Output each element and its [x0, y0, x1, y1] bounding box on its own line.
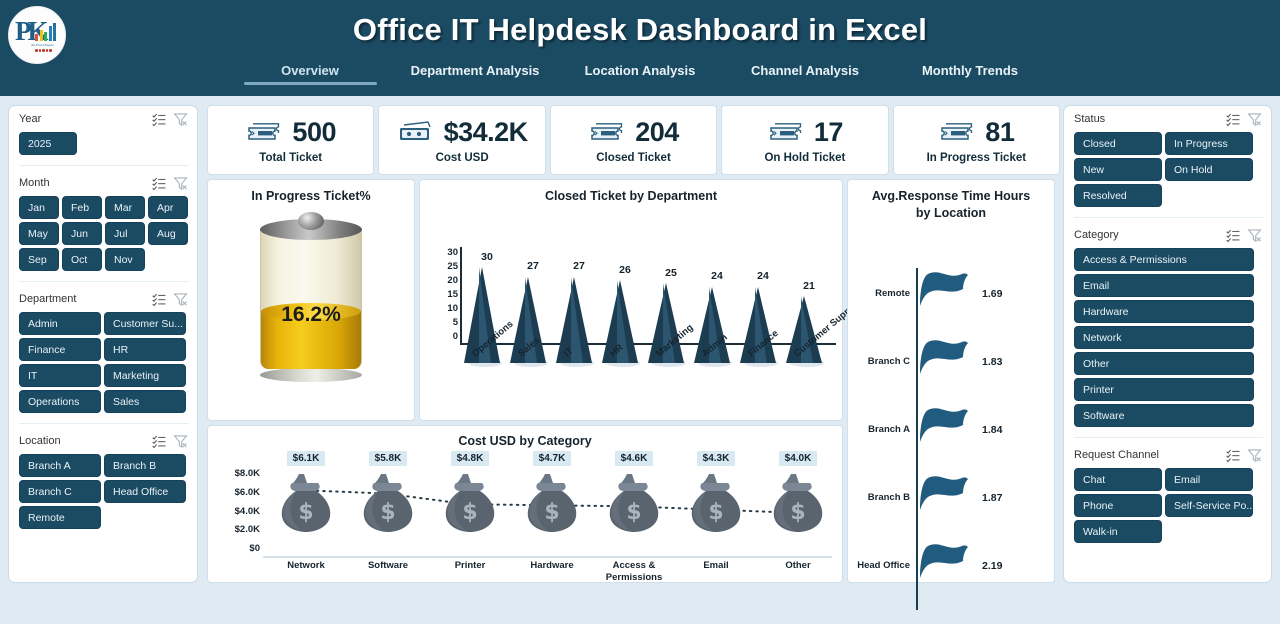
svg-text:$: $	[544, 500, 559, 525]
kpi-card: 500 Total Ticket	[207, 105, 374, 175]
slicer-items: 2025	[9, 132, 197, 163]
slicer-items: ChatEmailPhoneSelf-Service Po...Walk-in	[1064, 468, 1271, 551]
slicer-item[interactable]: Jan	[19, 196, 59, 219]
cone-y-tick: 20	[447, 275, 458, 286]
slicer-item[interactable]: Finance	[19, 338, 101, 361]
kpi-label: On Hold Ticket	[764, 152, 845, 164]
cone-y-tick: 25	[447, 261, 458, 272]
bag-data-label: $4.6K	[615, 451, 654, 466]
kpi-value-row: 17	[767, 117, 843, 148]
slicer-header: Category	[1064, 222, 1271, 248]
flag-icon	[918, 336, 978, 382]
flag-chart-title: Avg.Response Time Hours by Location	[848, 180, 1054, 222]
cone-y-tick: 30	[447, 247, 458, 258]
kpi-value-row: 204	[588, 117, 679, 148]
slicer-title: Category	[1074, 229, 1221, 241]
flag-bar	[918, 336, 978, 387]
cone-data-label: 24	[740, 270, 786, 282]
page-title: Office IT Helpdesk Dashboard in Excel	[0, 12, 1280, 48]
multi-select-icon[interactable]	[151, 111, 168, 128]
bag-data-label: $5.8K	[369, 451, 408, 466]
kpi-value: 17	[814, 117, 843, 148]
multi-select-icon[interactable]	[1225, 111, 1242, 128]
flag-icon	[918, 540, 978, 586]
slicer-month: Month JanFebMarAprMayJunJulAugSepOctNov	[9, 170, 197, 279]
tab-location-analysis[interactable]: Location Analysis	[558, 60, 723, 85]
slicer-item[interactable]: In Progress	[1165, 132, 1253, 155]
slicer-divider	[19, 165, 189, 166]
bag-category-label: Software	[345, 560, 431, 572]
tab-channel-analysis[interactable]: Channel Analysis	[723, 60, 888, 85]
tab-department-analysis[interactable]: Department Analysis	[393, 60, 558, 85]
flag-category-label: Head Office	[848, 560, 914, 571]
svg-text:$: $	[626, 500, 641, 525]
dashboard-root: PK An Excel Expert Office IT Helpdesk Da…	[0, 0, 1280, 624]
right-filter-panel: Status ClosedIn ProgressNewOn HoldResolv…	[1063, 105, 1272, 583]
kpi-value-row: 500	[245, 117, 336, 148]
slicer-item[interactable]: 2025	[19, 132, 77, 155]
flag-row: Branch A 1.84	[848, 402, 1054, 458]
slicer-title: Location	[19, 435, 147, 447]
slicer-item[interactable]: Other	[1074, 352, 1254, 375]
bag-column: $4.6K $ Access &Permissions	[591, 448, 677, 539]
cone-y-tick: 10	[447, 303, 458, 314]
slicer-item[interactable]: Mar	[105, 196, 145, 219]
slicer-item[interactable]: Software	[1074, 404, 1254, 427]
flag-row: Remote 1.69	[848, 266, 1054, 322]
bag-y-tick: $0	[249, 543, 260, 554]
bag-column: $4.8K $ Printer	[427, 448, 513, 539]
slicer-item[interactable]: Branch B	[104, 454, 186, 477]
flag-chart: Remote 1.69Branch C 1.83Branch A 1.84Bra…	[848, 222, 1054, 624]
bag-pictograph: $	[509, 468, 595, 539]
slicer-item[interactable]: Sep	[19, 248, 59, 271]
slicer-header: Month	[9, 170, 197, 196]
flag-bar	[918, 404, 978, 455]
flag-value-label: 1.83	[982, 356, 1002, 368]
slicer-year: Year 2025	[9, 106, 197, 163]
flag-chart-title-line1: Avg.Response Time Hours	[872, 189, 1030, 203]
dashboard-header: PK An Excel Expert Office IT Helpdesk Da…	[0, 0, 1280, 96]
cylinder-base	[260, 368, 362, 382]
flag-value-label: 1.87	[982, 492, 1002, 504]
slicer-item[interactable]: Branch A	[19, 454, 101, 477]
flag-icon	[918, 268, 978, 314]
kpi-value: $34.2K	[444, 117, 528, 148]
money-bag-icon: $	[441, 468, 499, 534]
bag-category-label: Hardware	[509, 560, 595, 572]
slicer-item[interactable]: Email	[1074, 274, 1254, 297]
slicer-status: Status ClosedIn ProgressNewOn HoldResolv…	[1064, 106, 1271, 215]
cone-y-axis: 302520151050	[428, 247, 458, 342]
slicer-title: Department	[19, 293, 147, 305]
slicer-item[interactable]: Closed	[1074, 132, 1162, 155]
slicer-item[interactable]: Oct	[62, 248, 102, 271]
logo-tagline: An Excel Expert	[31, 43, 54, 47]
bag-data-label: $4.0K	[779, 451, 818, 466]
slicer-item[interactable]: Operations	[19, 390, 101, 413]
slicer-items: JanFebMarAprMayJunJulAugSepOctNov	[9, 196, 197, 279]
bag-y-tick: $4.0K	[235, 506, 260, 517]
flag-row: Branch B 1.87	[848, 470, 1054, 526]
flag-category-label: Remote	[848, 288, 914, 299]
bag-category-label: Printer	[427, 560, 513, 572]
multi-select-icon[interactable]	[151, 291, 168, 308]
slicer-item[interactable]: Walk-in	[1074, 520, 1162, 543]
kpi-card: 204 Closed Ticket	[550, 105, 717, 175]
bag-category-label: Network	[263, 560, 349, 572]
slicer-title: Request Channel	[1074, 449, 1221, 461]
flag-value-label: 2.19	[982, 560, 1002, 572]
flag-row: Head Office 2.19	[848, 538, 1054, 594]
slicer-items: Branch ABranch BBranch CHead OfficeRemot…	[9, 454, 197, 537]
nav-tabs: Overview Department Analysis Location An…	[0, 60, 1280, 85]
tab-overview[interactable]: Overview	[228, 60, 393, 85]
gauge-title: In Progress Ticket%	[208, 180, 414, 205]
flag-bar	[918, 472, 978, 523]
flag-chart-title-line2: by Location	[916, 206, 986, 220]
flag-value-label: 1.84	[982, 424, 1002, 436]
svg-text:$: $	[708, 500, 723, 525]
slicer-item[interactable]: Phone	[1074, 494, 1162, 517]
slicer-item[interactable]: Customer Su...	[104, 312, 186, 335]
bag-column: $4.3K $ Email	[673, 448, 759, 539]
kpi-label: Total Ticket	[259, 152, 322, 164]
slicer-header: Location	[9, 428, 197, 454]
bag-pictograph: $	[755, 468, 841, 539]
clear-filter-icon[interactable]	[1246, 111, 1263, 128]
svg-text:$: $	[298, 500, 313, 525]
bag-y-axis: $8.0K$6.0K$4.0K$2.0K$0	[218, 468, 260, 554]
slicer-divider	[19, 423, 189, 424]
slicer-header: Year	[9, 106, 197, 132]
tab-monthly-trends[interactable]: Monthly Trends	[888, 60, 1053, 85]
money-bag-icon: $	[359, 468, 417, 534]
avg-response-time-panel: Avg.Response Time Hours by Location Remo…	[847, 179, 1055, 583]
dashboard-canvas: Year 2025Month JanFebMarAprMayJunJulAugS…	[0, 96, 1280, 624]
cylinder-gauge: 16.2%	[208, 209, 414, 387]
closed-ticket-by-department-panel: Closed Ticket by Department 302520151050…	[419, 179, 843, 421]
slicer-item[interactable]: Branch C	[19, 480, 101, 503]
bag-plot-area: $6.1K $ Network$5.8K $ Software$4.8K $ P…	[263, 448, 836, 582]
multi-select-icon[interactable]	[151, 433, 168, 450]
bag-data-label: $4.8K	[451, 451, 490, 466]
slicer-location: Location Branch ABranch BBranch CHead Of…	[9, 428, 197, 537]
flag-bar	[918, 268, 978, 319]
flag-value-label: 1.69	[982, 288, 1002, 300]
flag-category-label: Branch A	[848, 424, 914, 435]
bag-y-tick: $8.0K	[235, 468, 260, 479]
cone-y-tick: 15	[447, 289, 458, 300]
slicer-item[interactable]: Feb	[62, 196, 102, 219]
clear-filter-icon[interactable]	[1246, 227, 1263, 244]
cone-data-label: 27	[510, 260, 556, 272]
clear-filter-icon[interactable]	[172, 433, 189, 450]
ticket-icon	[938, 119, 974, 145]
money-bag-icon: $	[277, 468, 335, 534]
slicer-items: AdminCustomer Su...FinanceHRITMarketingO…	[9, 312, 197, 421]
slicer-items: ClosedIn ProgressNewOn HoldResolved	[1064, 132, 1271, 215]
kpi-card: 81 In Progress Ticket	[893, 105, 1060, 175]
bag-column: $5.8K $ Software	[345, 448, 431, 539]
slicer-divider	[1074, 437, 1263, 438]
cone-y-tick: 0	[453, 331, 458, 342]
slicer-item[interactable]: Printer	[1074, 378, 1254, 401]
svg-text:$: $	[462, 500, 477, 525]
slicer-item[interactable]: Resolved	[1074, 184, 1162, 207]
slicer-item[interactable]: Nov	[105, 248, 145, 271]
slicer-item[interactable]: New	[1074, 158, 1162, 181]
slicer-item[interactable]: Head Office	[104, 480, 186, 503]
cone-data-label: 24	[694, 270, 740, 282]
bag-pictograph: $	[673, 468, 759, 539]
flag-row: Branch C 1.83	[848, 334, 1054, 390]
bag-data-label: $4.3K	[697, 451, 736, 466]
money-bag-icon: $	[769, 468, 827, 534]
flag-category-label: Branch C	[848, 356, 914, 367]
slicer-item[interactable]: Sales	[104, 390, 186, 413]
kpi-value-row: 81	[938, 117, 1014, 148]
slicer-item[interactable]: Aug	[148, 222, 188, 245]
logo: PK An Excel Expert	[8, 6, 66, 64]
kpi-value: 500	[292, 117, 336, 148]
money-bag-icon: $	[523, 468, 581, 534]
slicer-item[interactable]: Jun	[62, 222, 102, 245]
slicer-item[interactable]: Access & Permissions	[1074, 248, 1254, 271]
cone-y-tick: 5	[453, 317, 458, 328]
cone-data-label: 30	[464, 251, 510, 263]
left-filter-panel: Year 2025Month JanFebMarAprMayJunJulAugS…	[8, 105, 198, 583]
clear-filter-icon[interactable]	[172, 111, 189, 128]
cone-data-label: 21	[786, 280, 832, 292]
slicer-divider	[1074, 217, 1263, 218]
multi-select-icon[interactable]	[1225, 227, 1242, 244]
slicer-department: Department AdminCustomer Su...FinanceHRI…	[9, 286, 197, 421]
bag-pictograph: $	[345, 468, 431, 539]
slicer-item[interactable]: Remote	[19, 506, 101, 529]
slicer-header: Department	[9, 286, 197, 312]
slicer-request-channel: Request Channel ChatEmailPhoneSelf-Servi…	[1064, 442, 1271, 551]
slicer-item[interactable]: Marketing	[104, 364, 186, 387]
kpi-label: Closed Ticket	[596, 152, 671, 164]
slicer-category: Category Access & PermissionsEmailHardwa…	[1064, 222, 1271, 435]
money-bag-chart: Cost USD by Category $8.0K$6.0K$4.0K$2.0…	[208, 426, 842, 582]
bag-column: $6.1K $ Network	[263, 448, 349, 539]
slicer-item[interactable]: Jul	[105, 222, 145, 245]
slicer-item[interactable]: May	[19, 222, 59, 245]
money-bag-icon: $	[605, 468, 663, 534]
ticket-icon	[588, 119, 624, 145]
slicer-header: Status	[1064, 106, 1271, 132]
cylinder-body	[260, 227, 362, 369]
logo-bar-chart-icon	[35, 23, 56, 41]
bag-category-label: Access &Permissions	[591, 560, 677, 584]
slicer-item[interactable]: Email	[1165, 468, 1253, 491]
slicer-title: Year	[19, 113, 147, 125]
money-bag-icon: $	[687, 468, 745, 534]
cone-chart-title: Closed Ticket by Department	[420, 180, 842, 205]
cone-data-label: 26	[602, 264, 648, 276]
cone-data-label: 27	[556, 260, 602, 272]
flag-icon	[918, 472, 978, 518]
gauge-value-label: 16.2%	[260, 303, 362, 327]
kpi-value: 204	[635, 117, 679, 148]
money-icon	[397, 119, 433, 145]
slicer-header: Request Channel	[1064, 442, 1271, 468]
ticket-icon	[767, 119, 803, 145]
slicer-title: Status	[1074, 113, 1221, 125]
slicer-item[interactable]: Admin	[19, 312, 101, 335]
svg-text:$: $	[790, 500, 805, 525]
bag-y-tick: $2.0K	[235, 524, 260, 535]
slicer-item[interactable]: Network	[1074, 326, 1254, 349]
clear-filter-icon[interactable]	[1246, 447, 1263, 464]
slicer-item[interactable]: Hardware	[1074, 300, 1254, 323]
slicer-divider	[19, 281, 189, 282]
flag-category-label: Branch B	[848, 492, 914, 503]
bag-data-label: $4.7K	[533, 451, 572, 466]
cylinder-knob	[298, 212, 324, 230]
multi-select-icon[interactable]	[1225, 447, 1242, 464]
multi-select-icon[interactable]	[151, 175, 168, 192]
clear-filter-icon[interactable]	[172, 291, 189, 308]
clear-filter-icon[interactable]	[172, 175, 189, 192]
slicer-items: Access & PermissionsEmailHardwareNetwork…	[1064, 248, 1271, 435]
kpi-label: Cost USD	[436, 152, 489, 164]
slicer-title: Month	[19, 177, 147, 189]
slicer-item[interactable]: IT	[19, 364, 101, 387]
kpi-card: $34.2K Cost USD	[378, 105, 545, 175]
kpi-value: 81	[985, 117, 1014, 148]
kpi-value-row: $34.2K	[397, 117, 528, 148]
kpi-card: 17 On Hold Ticket	[721, 105, 888, 175]
cost-by-category-panel: Cost USD by Category $8.0K$6.0K$4.0K$2.0…	[207, 425, 843, 583]
bag-pictograph: $	[427, 468, 513, 539]
bag-y-tick: $6.0K	[235, 487, 260, 498]
kpi-label: In Progress Ticket	[927, 152, 1027, 164]
flag-icon	[918, 404, 978, 450]
svg-text:$: $	[380, 500, 395, 525]
slicer-item[interactable]: On Hold	[1165, 158, 1253, 181]
kpi-card-row: 500 Total Ticket $34.2K Cost USD 204 Clo…	[207, 105, 1060, 175]
bag-data-label: $6.1K	[287, 451, 326, 466]
cone-plot-area: 30 Operations 27 Sales 27 IT 26 HR 25	[462, 233, 836, 445]
in-progress-gauge-panel: In Progress Ticket% 16.2%	[207, 179, 415, 421]
bag-column: $4.7K $ Hardware	[509, 448, 595, 539]
bag-category-label: Email	[673, 560, 759, 572]
ticket-icon	[245, 119, 281, 145]
bag-pictograph: $	[591, 468, 677, 539]
bag-column: $4.0K $ Other	[755, 448, 841, 539]
logo-dots-icon	[35, 49, 52, 52]
slicer-item[interactable]: Apr	[148, 196, 188, 219]
slicer-item[interactable]: HR	[104, 338, 186, 361]
slicer-item[interactable]: Self-Service Po...	[1165, 494, 1253, 517]
slicer-item[interactable]: Chat	[1074, 468, 1162, 491]
cone-data-label: 25	[648, 267, 694, 279]
bag-pictograph: $	[263, 468, 349, 539]
cone-chart: 302520151050 30 Operations 27 Sales 27 I…	[420, 205, 842, 445]
bag-category-label: Other	[755, 560, 841, 572]
bag-chart-title: Cost USD by Category	[208, 434, 842, 448]
flag-bar	[918, 540, 978, 591]
